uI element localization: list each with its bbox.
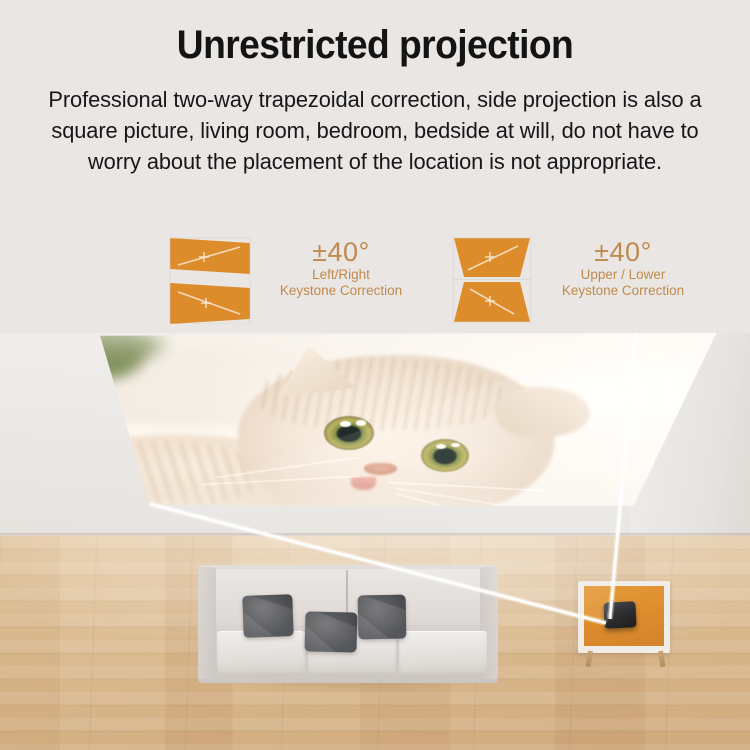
mini-projector bbox=[603, 601, 636, 629]
sofa-arm-left bbox=[198, 567, 216, 679]
keystone-feature-row: ±40° Left/Right Keystone Correction bbox=[0, 234, 750, 334]
orange-side-table bbox=[578, 581, 670, 665]
feature-upper-lower-text: ±40° Upper / Lower Keystone Correction bbox=[544, 234, 702, 299]
feature-upper-lower-keystone: ±40° Upper / Lower Keystone Correction bbox=[450, 234, 702, 334]
side-table-leg bbox=[658, 651, 665, 668]
page-title: Unrestricted projection bbox=[26, 24, 724, 66]
keystone-degrees: ±40° bbox=[262, 238, 420, 267]
throw-pillow bbox=[242, 594, 293, 638]
left-right-keystone-icon bbox=[168, 234, 252, 324]
projector-lens-icon bbox=[606, 610, 613, 619]
keystone-degrees: ±40° bbox=[544, 238, 702, 267]
upper-lower-keystone-icon bbox=[450, 234, 534, 324]
sofa-seat-cushion bbox=[217, 631, 305, 675]
keystone-correction-label: Keystone Correction bbox=[262, 283, 420, 299]
promo-graphic: Unrestricted projection Professional two… bbox=[0, 0, 750, 750]
hero-description: Professional two-way trapezoidal correct… bbox=[29, 84, 722, 177]
pillow-fold bbox=[358, 595, 407, 640]
keystone-correction-label: Keystone Correction bbox=[544, 283, 702, 299]
throw-pillow bbox=[358, 595, 407, 640]
keystone-axis-label: Left/Right bbox=[262, 267, 420, 283]
throw-pillow bbox=[304, 611, 357, 652]
pillow-fold bbox=[242, 594, 293, 638]
feature-left-right-text: ±40° Left/Right Keystone Correction bbox=[262, 234, 420, 299]
side-table-leg bbox=[586, 651, 593, 668]
sofa-seat-cushion bbox=[399, 631, 487, 675]
keystone-axis-label: Upper / Lower bbox=[544, 267, 702, 283]
feature-left-right-keystone: ±40° Left/Right Keystone Correction bbox=[168, 234, 420, 334]
three-seat-sofa bbox=[198, 565, 498, 695]
pillow-fold bbox=[304, 611, 357, 652]
room-scene-photo bbox=[0, 333, 750, 750]
